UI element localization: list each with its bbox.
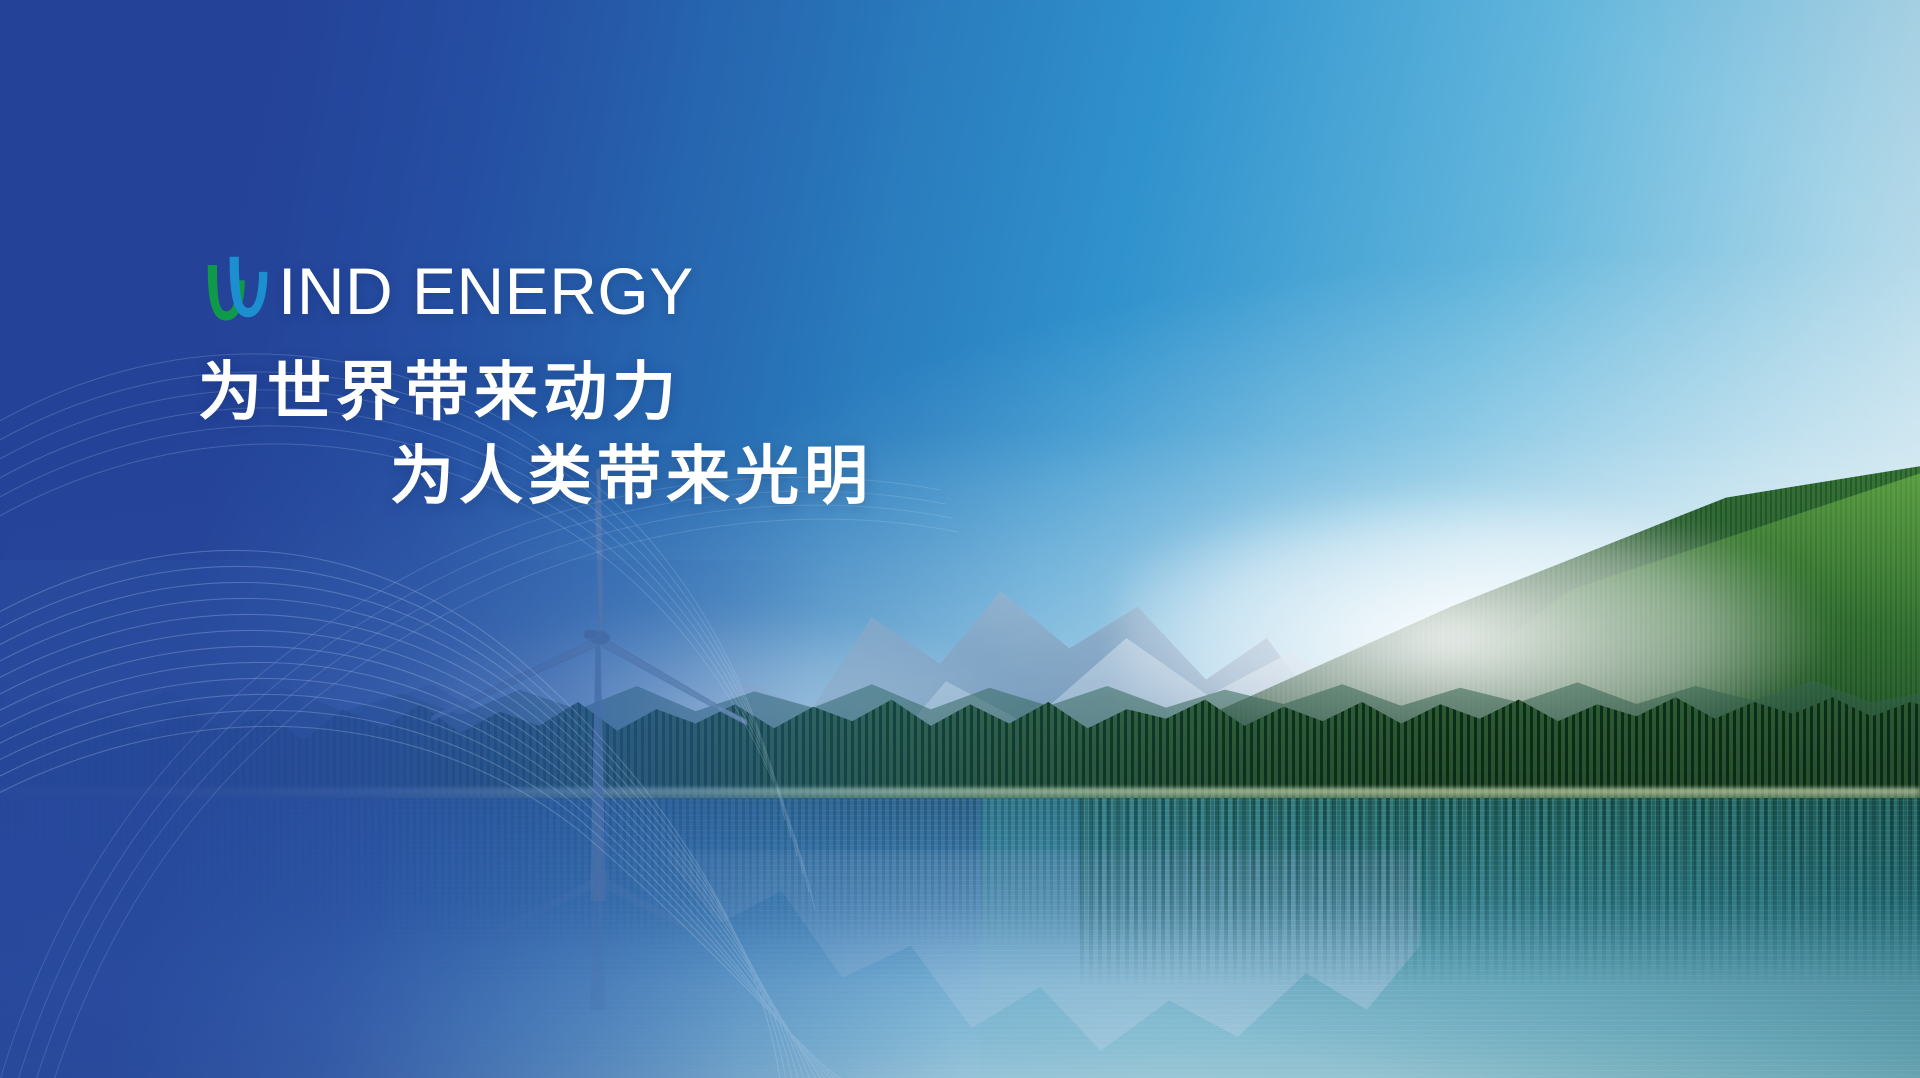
brand-lockup: IND ENERGY	[196, 236, 1396, 328]
brand-wordmark: IND ENERGY	[278, 258, 694, 328]
wind-w-logo-icon	[196, 250, 280, 334]
hero-banner: IND ENERGY 为世界带来动力 为人类带来光明	[0, 0, 1920, 1078]
tagline-line-1: 为世界带来动力	[198, 350, 1396, 434]
decorative-ribbon-lines	[0, 60, 980, 1078]
hero-copy: IND ENERGY 为世界带来动力 为人类带来光明	[196, 236, 1396, 518]
tagline-line-2: 为人类带来光明	[390, 434, 1396, 518]
